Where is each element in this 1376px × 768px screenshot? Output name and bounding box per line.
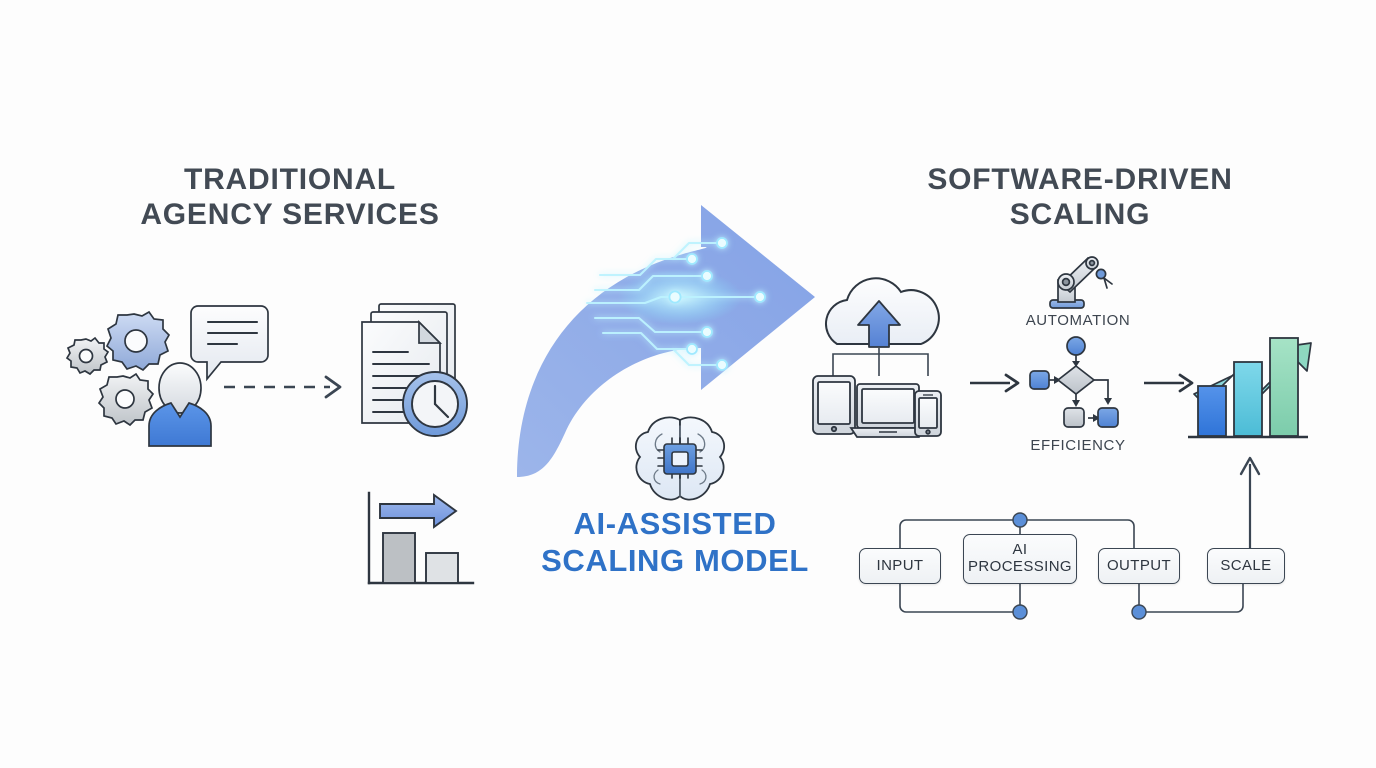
center-title-ai-assisted: AI-ASSISTED SCALING MODEL (480, 505, 870, 579)
scale-up-arrow-icon (1230, 448, 1270, 554)
flow-box-ai-line2: PROCESSING (968, 559, 1072, 576)
center-title-line1: AI-ASSISTED (480, 505, 870, 542)
cloud-devices-icon (795, 272, 965, 444)
brain-chip-icon (630, 412, 730, 508)
heading-left-line1: TRADITIONAL (90, 162, 490, 197)
page-title-software-driven: SOFTWARE-DRIVEN SCALING (880, 162, 1280, 233)
robot-arm-icon (1032, 252, 1124, 310)
flow-box-ai-processing[interactable]: AI PROCESSING (963, 534, 1077, 584)
automation-label: AUTOMATION (1003, 312, 1153, 329)
arrow-cloud-to-automation-icon (968, 368, 1028, 398)
flow-box-scale[interactable]: SCALE (1207, 548, 1285, 584)
flow-box-ai-line1: AI (968, 542, 1072, 559)
page-title-traditional: TRADITIONAL AGENCY SERVICES (90, 162, 490, 233)
flow-box-output[interactable]: OUTPUT (1098, 548, 1180, 584)
center-title-line2: SCALING MODEL (480, 542, 870, 579)
efficiency-label: EFFICIENCY (1003, 437, 1153, 454)
heading-left-line2: AGENCY SERVICES (90, 197, 490, 232)
efficiency-flowchart-icon (1026, 336, 1130, 432)
heading-right-line2: SCALING (880, 197, 1280, 232)
growth-bar-chart-icon (1180, 288, 1310, 446)
flow-box-input[interactable]: INPUT (859, 548, 941, 584)
flat-bar-chart-icon (358, 487, 480, 591)
documents-clock-icon (352, 296, 482, 448)
heading-right-line1: SOFTWARE-DRIVEN (880, 162, 1280, 197)
dashed-arrow-right-icon (222, 370, 354, 404)
infographic-canvas: TRADITIONAL AGENCY SERVICES SOFTWARE-DRI… (0, 0, 1376, 768)
